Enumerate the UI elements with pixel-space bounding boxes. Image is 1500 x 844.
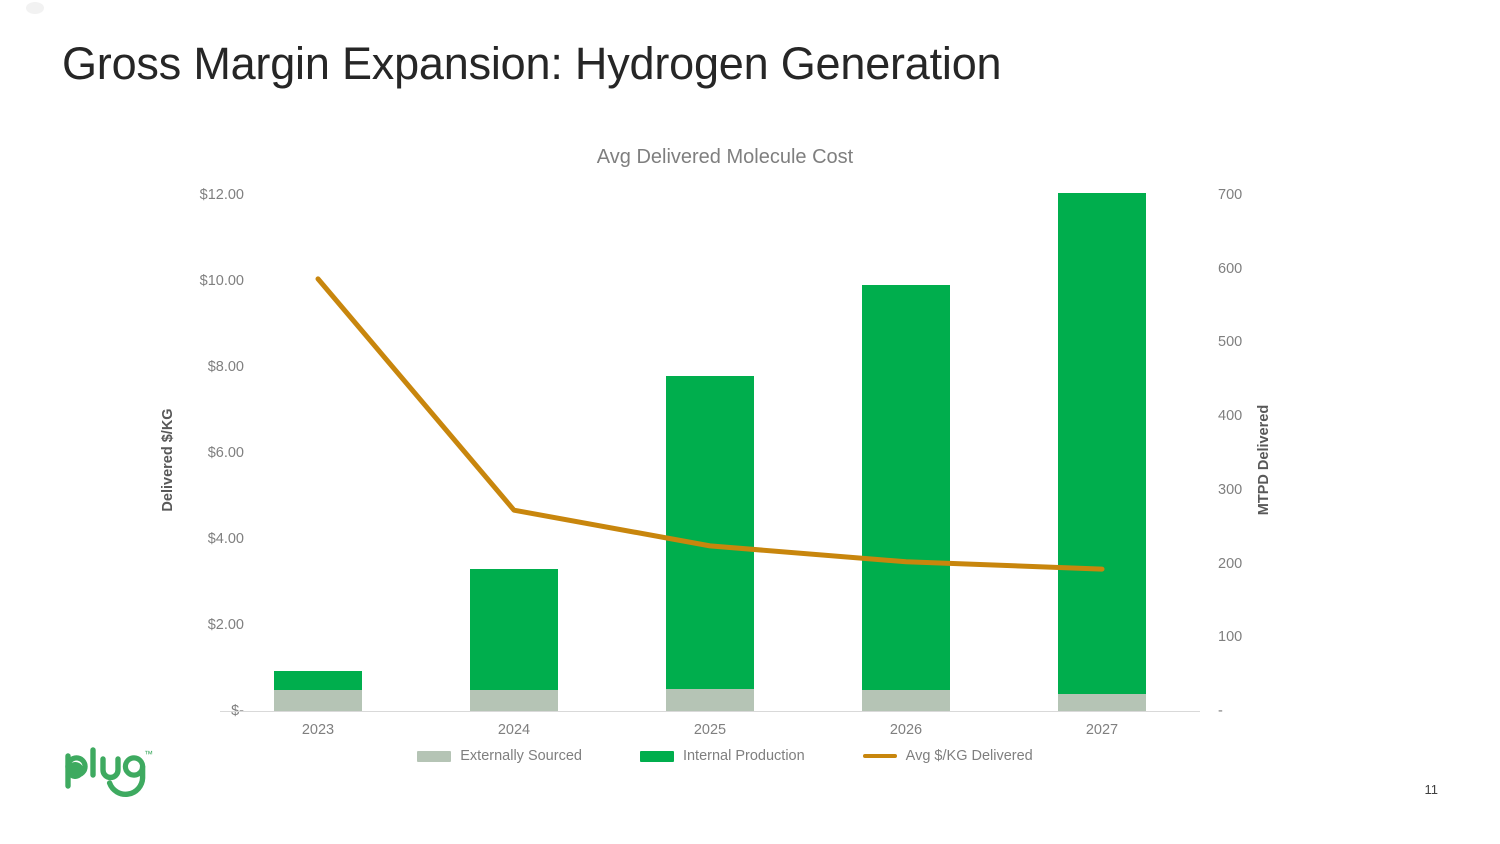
y-axis-right-tick-label: 200 bbox=[1218, 556, 1242, 572]
legend-item[interactable]: Externally Sourced bbox=[417, 748, 582, 764]
y-axis-right-tick-label: 600 bbox=[1218, 261, 1242, 277]
y-axis-right-tick-label: - bbox=[1218, 703, 1223, 719]
y-axis-right-title: MTPD Delivered bbox=[1256, 405, 1272, 515]
bar-column-2023[interactable] bbox=[274, 671, 362, 711]
legend-item[interactable]: Internal Production bbox=[640, 748, 805, 764]
bar-segment-internal-production[interactable] bbox=[470, 569, 558, 689]
plug-logo: ™ bbox=[62, 742, 154, 800]
bar-column-2024[interactable] bbox=[470, 569, 558, 711]
chart-container: Avg Delivered Molecule Cost Delivered $/… bbox=[0, 130, 1500, 790]
y-axis-right-tick-label: 100 bbox=[1218, 629, 1242, 645]
bar-segment-externally-sourced[interactable] bbox=[862, 690, 950, 712]
y-axis-right-tick-label: 500 bbox=[1218, 334, 1242, 350]
bar-segment-internal-production[interactable] bbox=[274, 671, 362, 689]
bar-segment-externally-sourced[interactable] bbox=[1058, 694, 1146, 711]
chart-title: Avg Delivered Molecule Cost bbox=[0, 146, 1450, 169]
page-title: Gross Margin Expansion: Hydrogen Generat… bbox=[62, 38, 1001, 90]
legend-color-swatch bbox=[640, 751, 674, 762]
legend-label: Internal Production bbox=[683, 748, 805, 764]
page-number: 11 bbox=[1425, 782, 1439, 797]
y-axis-right-tick-label: 300 bbox=[1218, 482, 1242, 498]
axis-baseline bbox=[220, 711, 1200, 712]
bar-segment-internal-production[interactable] bbox=[666, 376, 754, 689]
legend-label: Avg $/KG Delivered bbox=[906, 748, 1033, 764]
bar-segment-externally-sourced[interactable] bbox=[274, 690, 362, 712]
slide: Gross Margin Expansion: Hydrogen Generat… bbox=[0, 0, 1500, 844]
bar-segment-internal-production[interactable] bbox=[862, 285, 950, 689]
legend-item[interactable]: Avg $/KG Delivered bbox=[863, 748, 1033, 764]
bar-segment-externally-sourced[interactable] bbox=[666, 689, 754, 711]
plot-area bbox=[220, 195, 1200, 711]
y-axis-right-tick-label: 400 bbox=[1218, 408, 1242, 424]
y-axis-left-title: Delivered $/KG bbox=[160, 408, 176, 511]
legend-label: Externally Sourced bbox=[460, 748, 582, 764]
legend-color-swatch bbox=[417, 751, 451, 762]
bar-column-2025[interactable] bbox=[666, 376, 754, 711]
x-axis-tick-label: 2026 bbox=[846, 722, 966, 738]
y-axis-right-tick-label: 700 bbox=[1218, 187, 1242, 203]
trademark-symbol: ™ bbox=[144, 749, 153, 759]
x-axis-tick-label: 2024 bbox=[454, 722, 574, 738]
decorative-corner-mark bbox=[26, 2, 44, 14]
x-axis-tick-label: 2025 bbox=[650, 722, 770, 738]
x-axis-tick-label: 2027 bbox=[1042, 722, 1162, 738]
bar-column-2026[interactable] bbox=[862, 285, 950, 711]
bar-segment-internal-production[interactable] bbox=[1058, 193, 1146, 694]
x-axis-tick-label: 2023 bbox=[258, 722, 378, 738]
chart-legend: Externally SourcedInternal ProductionAvg… bbox=[0, 748, 1450, 764]
bar-column-2027[interactable] bbox=[1058, 193, 1146, 711]
bar-segment-externally-sourced[interactable] bbox=[470, 690, 558, 712]
legend-line-swatch bbox=[863, 754, 897, 758]
